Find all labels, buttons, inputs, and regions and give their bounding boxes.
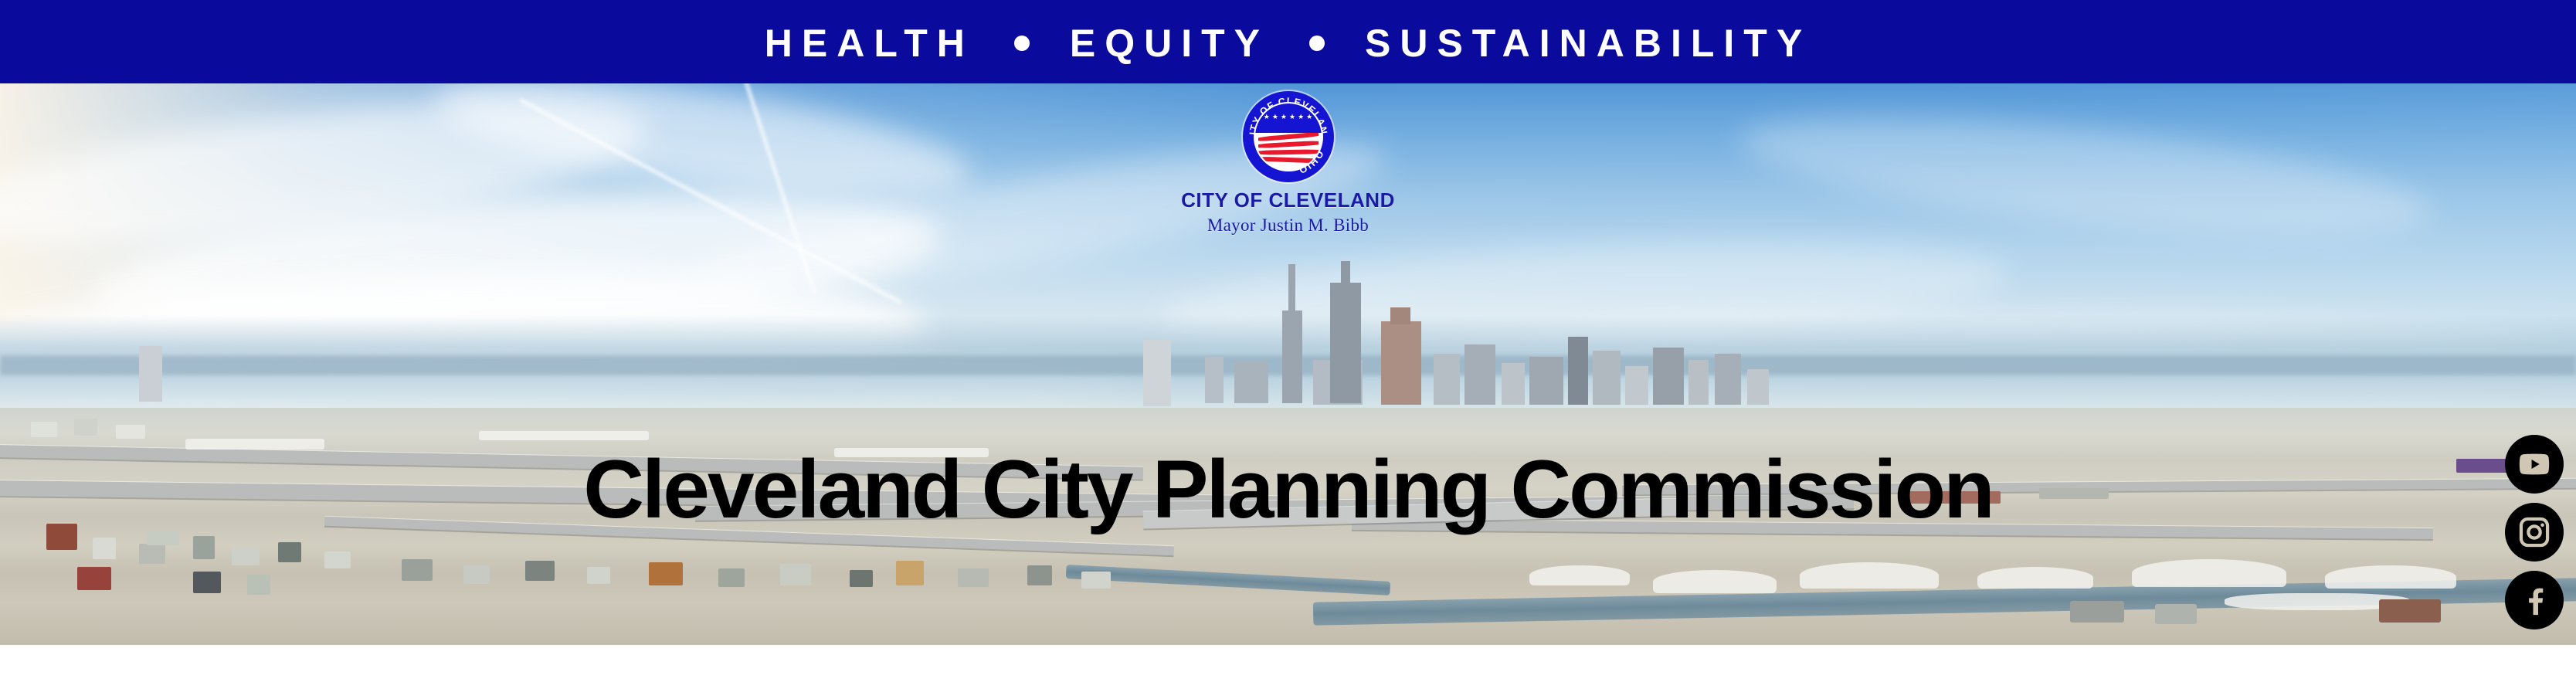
tagline-word-equity: EQUITY [1070, 24, 1269, 63]
bullet-dot-icon [1309, 36, 1325, 51]
facebook-icon[interactable] [2505, 571, 2564, 629]
tagline-banner: HEALTH EQUITY SUSTAINABILITY [0, 0, 2576, 83]
seal-flag-icon [1258, 133, 1319, 167]
seal-inner-ring: ★★★★ ★★★★ [1254, 102, 1323, 171]
tagline-banner-inner: HEALTH EQUITY SUSTAINABILITY [765, 24, 1811, 63]
seal-stars-icon: ★★★★ ★★★★ [1255, 108, 1322, 125]
tagline-word-sustainability: SUSTAINABILITY [1365, 24, 1811, 63]
mayor-name-label: Mayor Justin M. Bibb [1207, 215, 1369, 236]
instagram-icon[interactable] [2505, 503, 2564, 562]
social-links [2505, 435, 2564, 629]
page-title: Cleveland City Planning Commission [0, 448, 2576, 531]
page-root: HEALTH EQUITY SUSTAINABILITY [0, 0, 2576, 682]
bullet-dot-icon [1014, 36, 1030, 51]
youtube-icon[interactable] [2505, 435, 2564, 494]
city-name-label: CITY OF CLEVELAND [1181, 188, 1395, 212]
tagline-word-health: HEALTH [765, 24, 974, 63]
city-of-cleveland-seal-icon[interactable]: CITY OF CLEVELAND OHIO ★★★★ ★★★★ [1243, 91, 1334, 182]
hero-photo: CITY OF CLEVELAND OHIO ★★★★ ★★★★ [0, 83, 2576, 645]
